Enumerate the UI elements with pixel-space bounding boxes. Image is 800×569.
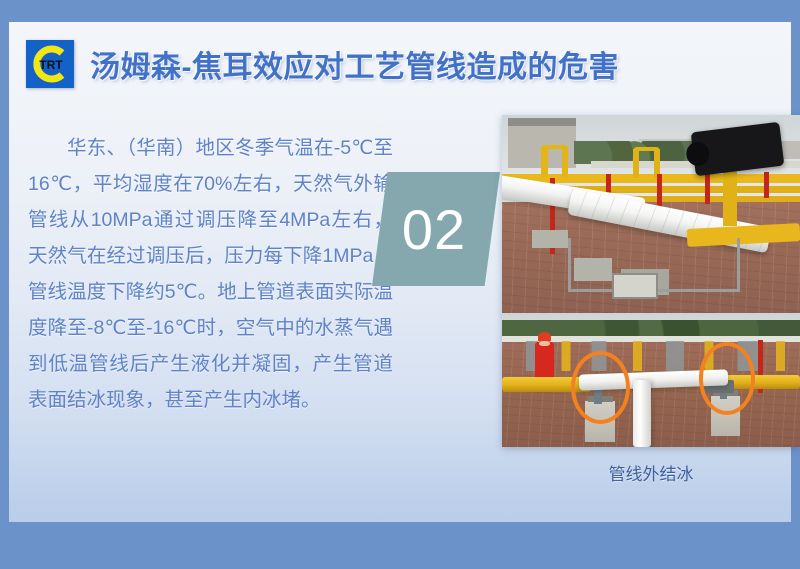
photo1-yellow-pipe-3 — [621, 196, 800, 202]
trt-logo: TRT — [26, 40, 74, 88]
photo-caption: 管线外结冰 — [502, 460, 800, 485]
photo-stack — [502, 115, 800, 447]
photo1-support-block-1 — [532, 230, 568, 248]
annotation-circle-left — [571, 351, 631, 425]
photo1-actuator-stem — [723, 166, 738, 225]
page-title: 汤姆森-焦耳效应对工艺管线造成的危害 — [90, 42, 619, 86]
frame-band-top — [0, 0, 800, 22]
photo1-riser-bend-2 — [633, 147, 660, 151]
slide-header: TRT 汤姆森-焦耳效应对工艺管线造成的危害 — [26, 40, 619, 88]
photo1-riser-3 — [633, 149, 639, 179]
section-number-label: 02 — [402, 197, 466, 262]
photo1-riser-2 — [562, 147, 569, 179]
frame-band-bottom — [0, 522, 800, 569]
photo1-red-post-4 — [705, 174, 710, 204]
slide-canvas: TRT 汤姆森-焦耳效应对工艺管线造成的危害 华东、（华南）地区冬季气温在-5℃… — [0, 0, 800, 569]
trt-logo-text: TRT — [39, 58, 63, 72]
photo-worker-circled-icing — [502, 313, 800, 447]
annotation-circle-right — [699, 342, 756, 414]
photo1-riser-bend-1 — [541, 145, 569, 150]
photo-pipeline-station-iced-pipe — [502, 115, 800, 313]
body-paragraph: 华东、（华南）地区冬季气温在-5℃至16℃，平均湿度在70%左右，天然气外输管线… — [28, 130, 393, 418]
frame-band-left — [0, 0, 9, 569]
photo2-iced-pipe-vertical — [633, 380, 651, 447]
section-number-badge: 02 — [372, 172, 500, 286]
photo1-instrument-box — [612, 273, 658, 299]
photo1-red-post-3 — [657, 174, 662, 208]
photo1-riser-1 — [541, 147, 548, 179]
photo1-red-post-5 — [764, 172, 769, 198]
trt-logo-mark: TRT — [26, 40, 74, 88]
